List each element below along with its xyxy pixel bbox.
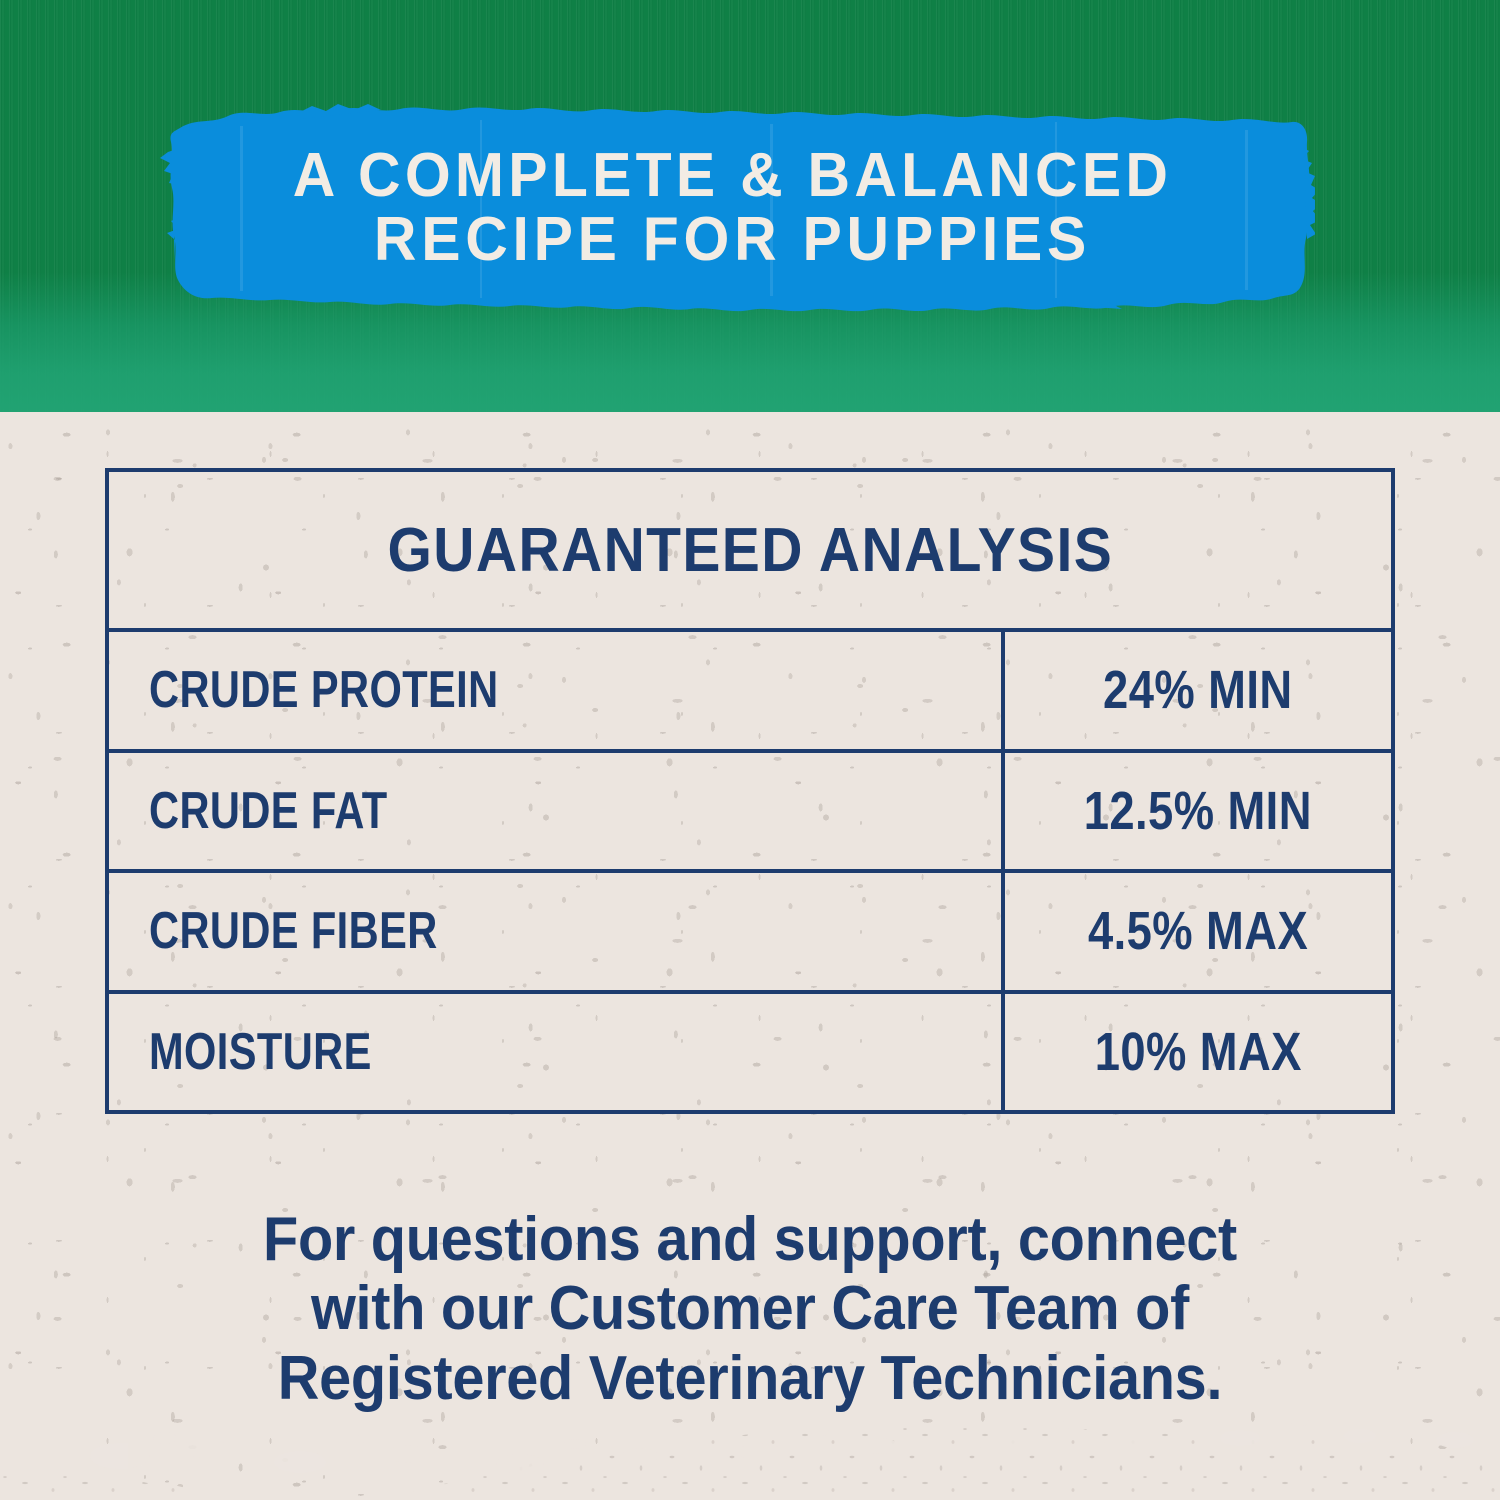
guaranteed-analysis-title-row: GUARANTEED ANALYSIS (109, 472, 1391, 632)
nutrient-label-cell: CRUDE FIBER (109, 873, 1005, 990)
nutrient-value-cell: 10% MAX (1005, 994, 1391, 1111)
headline-brush-banner: A COMPLETE & BALANCED RECIPE FOR PUPPIES (150, 100, 1315, 315)
customer-care-line-2: with our Customer Care Team of (155, 1274, 1345, 1343)
customer-care-note: For questions and support, connect with … (155, 1205, 1345, 1413)
headline-text-block: A COMPLETE & BALANCED RECIPE FOR PUPPIES (179, 100, 1286, 315)
guaranteed-analysis-title: GUARANTEED ANALYSIS (387, 515, 1113, 586)
nutrient-label: CRUDE FIBER (149, 901, 438, 961)
headline-line-1: A COMPLETE & BALANCED (293, 144, 1172, 208)
product-label-panel: A COMPLETE & BALANCED RECIPE FOR PUPPIES… (0, 0, 1500, 1500)
guaranteed-analysis-table: GUARANTEED ANALYSIS CRUDE PROTEIN 24% MI… (105, 468, 1395, 1114)
customer-care-line-3: Registered Veterinary Technicians. (155, 1344, 1345, 1413)
table-row: CRUDE FAT 12.5% MIN (109, 753, 1391, 874)
nutrient-label-cell: MOISTURE (109, 994, 1005, 1111)
nutrient-value-cell: 24% MIN (1005, 632, 1391, 749)
nutrient-value: 12.5% MIN (1084, 780, 1312, 842)
table-row: CRUDE FIBER 4.5% MAX (109, 873, 1391, 994)
headline-line-2: RECIPE FOR PUPPIES (374, 208, 1091, 272)
table-row: MOISTURE 10% MAX (109, 994, 1391, 1111)
nutrient-value: 10% MAX (1094, 1021, 1301, 1083)
nutrient-label: CRUDE PROTEIN (149, 660, 499, 720)
nutrient-value-cell: 4.5% MAX (1005, 873, 1391, 990)
nutrient-label: CRUDE FAT (149, 781, 388, 841)
nutrient-value-cell: 12.5% MIN (1005, 753, 1391, 870)
table-row: CRUDE PROTEIN 24% MIN (109, 632, 1391, 753)
customer-care-line-1: For questions and support, connect (155, 1205, 1345, 1274)
nutrient-label: MOISTURE (149, 1022, 372, 1082)
nutrient-label-cell: CRUDE FAT (109, 753, 1005, 870)
nutrient-value: 4.5% MAX (1088, 900, 1308, 962)
nutrient-label-cell: CRUDE PROTEIN (109, 632, 1005, 749)
nutrient-value: 24% MIN (1103, 659, 1292, 721)
